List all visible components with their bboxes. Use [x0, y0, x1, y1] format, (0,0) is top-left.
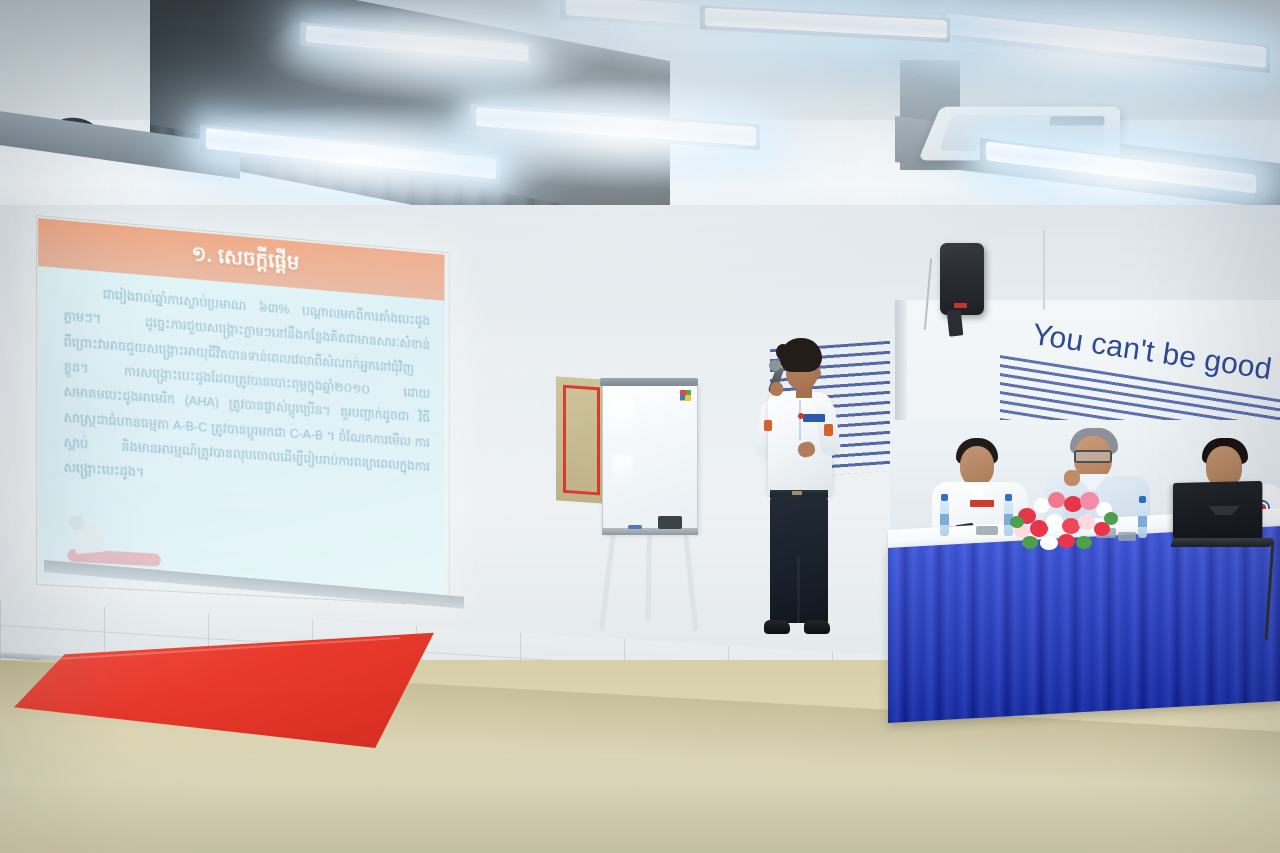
laptop-icon: [1173, 481, 1262, 541]
presenter-speaking: [742, 338, 852, 648]
shirt-placket: [799, 400, 801, 440]
brand-logo-icon: [680, 390, 691, 401]
eyeglasses-icon: [1074, 450, 1112, 463]
easel-leg: [646, 532, 651, 620]
projected-slide: ១. សេចក្តីផ្តើម ជារៀងរាល់ឆ្នាំការស្លាប់ប…: [38, 218, 444, 599]
easel-leg: [600, 532, 615, 630]
presenter-shoe: [804, 620, 830, 634]
desk-item: [976, 526, 998, 535]
speaker-bracket: [947, 309, 964, 336]
seminar-room-photo: You can't be good ១. សេចក្តីផ្តើម ជារៀងរ…: [0, 0, 1280, 853]
eraser-icon: [658, 516, 682, 529]
table-skirt: [888, 526, 1280, 723]
microphone-head-icon: [769, 360, 781, 371]
panelist-head: [960, 446, 994, 486]
whiteboard-surface: [602, 383, 698, 533]
uniform-emblem-icon: [798, 413, 804, 419]
uniform-logo-icon: [803, 414, 825, 422]
framed-notice-poster: [556, 376, 604, 503]
wall-conduit: [1043, 230, 1045, 310]
presenter-pants: [770, 495, 828, 623]
shoulder-patch-icon: [764, 420, 772, 431]
flipchart-easel: [600, 370, 705, 630]
water-bottle-icon: [1138, 502, 1147, 538]
marker-icon: [628, 525, 642, 529]
desk-item: [1118, 532, 1136, 541]
laptop-keyboard: [1170, 538, 1274, 547]
jbl-speaker-icon: [940, 243, 984, 315]
presenter-hair: [780, 338, 822, 372]
presenter-shoe: [764, 620, 790, 634]
easel-leg: [684, 532, 697, 630]
marker-tray: [602, 528, 698, 535]
water-bottle-icon: [940, 500, 949, 536]
slide-title: ១. សេចក្តីផ្តើម: [191, 240, 299, 280]
paper-clamp: [600, 378, 698, 386]
floral-centerpiece: [1010, 490, 1120, 552]
panelist-logo-icon: [970, 500, 994, 507]
panelist-hand-on-chin: [1064, 470, 1080, 486]
panel-table-area: [890, 420, 1280, 740]
slide-body-text: ជារៀងរាល់ឆ្នាំការស្លាប់ប្រមាណ ៦៣% បណ្ដាល…: [64, 278, 430, 503]
shoulder-patch-icon: [824, 424, 833, 436]
